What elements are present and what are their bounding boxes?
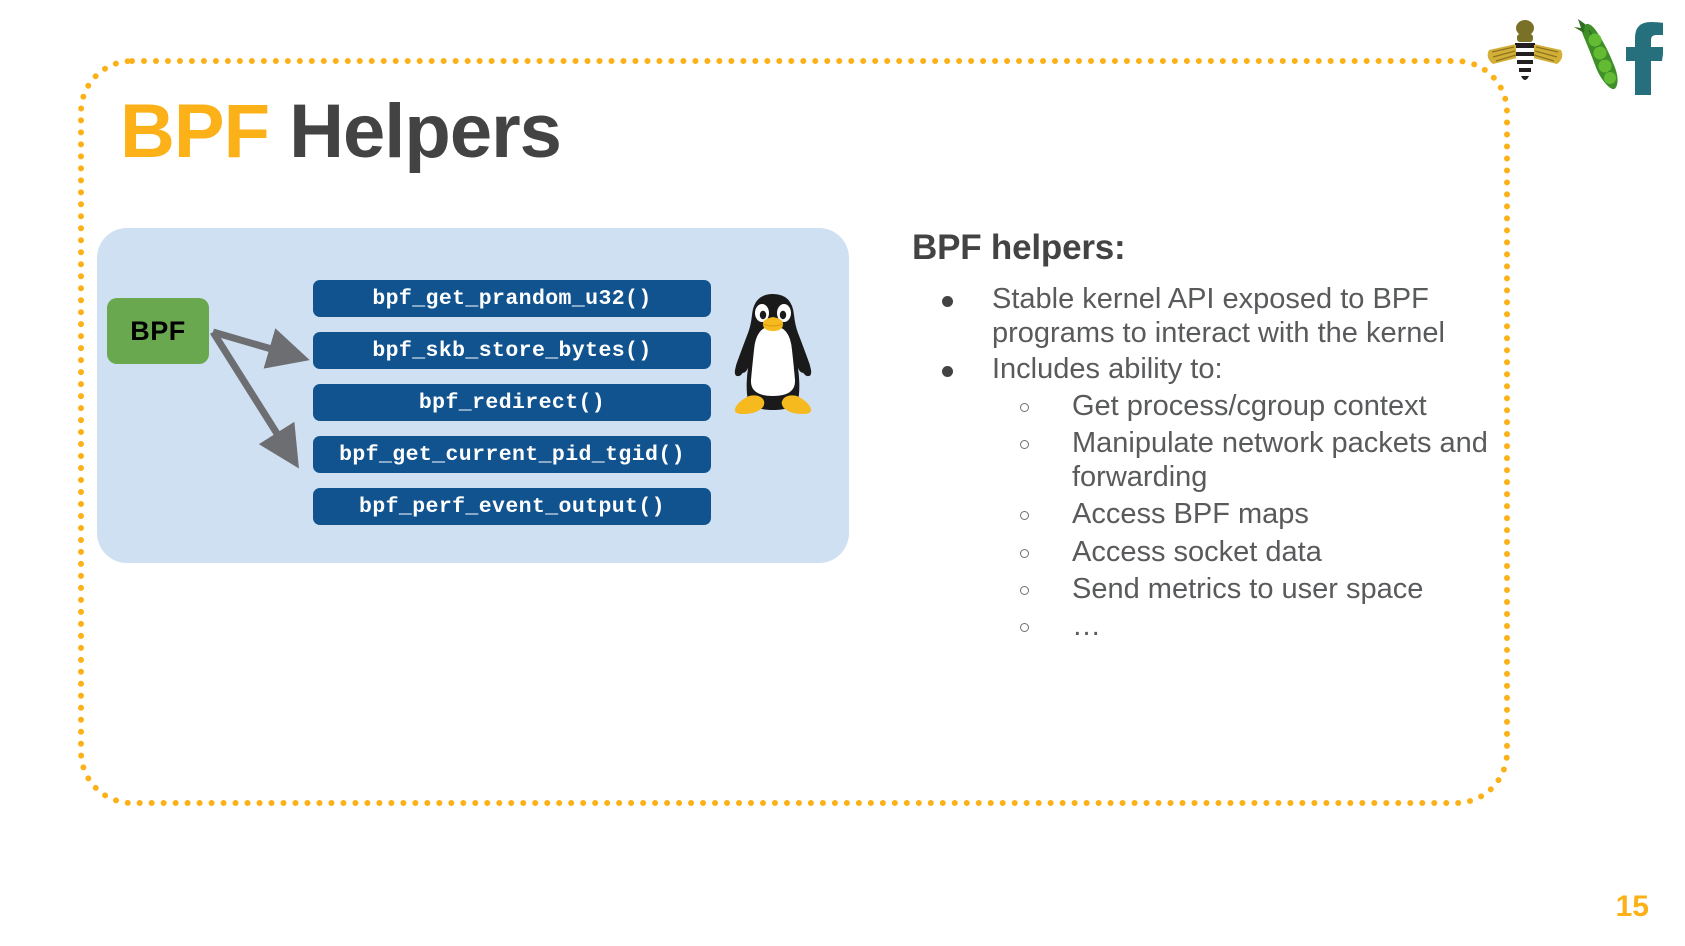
slide-canvas: BPF Helpers BPF bpf_get_prandom_u32() bp… — [0, 0, 1685, 946]
helper-function-box[interactable]: bpf_perf_event_output() — [313, 488, 711, 525]
bullet-circle-icon — [1020, 549, 1029, 558]
list-item: Send metrics to user space — [992, 572, 1492, 606]
helper-function-box[interactable]: bpf_redirect() — [313, 384, 711, 421]
list-item-text: Manipulate network packets and forwardin… — [1072, 427, 1488, 493]
list-item-text: Send metrics to user space — [1072, 573, 1423, 605]
list-item: Access socket data — [992, 535, 1492, 569]
logo-cluster — [1483, 14, 1663, 100]
bullet-circle-icon — [1020, 511, 1029, 520]
list-item-text: Includes ability to: — [992, 353, 1223, 385]
bullet-dot-icon — [942, 366, 953, 377]
bullet-circle-icon — [1020, 440, 1029, 449]
helper-function-box[interactable]: bpf_get_prandom_u32() — [313, 280, 711, 317]
list-item-text: Get process/cgroup context — [1072, 390, 1427, 422]
list-item-text: … — [1072, 610, 1101, 642]
ebpf-bee-icon — [1488, 20, 1563, 85]
bullet-list-level-1: Stable kernel API exposed to BPF program… — [912, 282, 1492, 643]
page-title: BPF Helpers — [120, 90, 561, 174]
facebook-f-icon — [1626, 22, 1663, 95]
bullet-dot-icon — [942, 296, 953, 307]
bullet-list-level-2: Get process/cgroup context Manipulate ne… — [992, 389, 1492, 644]
bullet-circle-icon — [1020, 403, 1029, 412]
list-item: Access BPF maps — [992, 497, 1492, 531]
pea-pod-icon — [1574, 19, 1618, 89]
page-number: 15 — [1616, 890, 1649, 924]
list-item: Manipulate network packets and forwardin… — [992, 426, 1492, 494]
list-item: Get process/cgroup context — [992, 389, 1492, 423]
tux-penguin-icon — [719, 290, 827, 420]
list-item-text: Stable kernel API exposed to BPF program… — [992, 283, 1445, 349]
bullet-circle-icon — [1020, 623, 1029, 632]
helpers-description-panel: BPF helpers: Stable kernel API exposed t… — [912, 228, 1492, 646]
helper-function-box[interactable]: bpf_skb_store_bytes() — [313, 332, 711, 369]
content-heading: BPF helpers: — [912, 228, 1492, 268]
page-title-main: Helpers — [289, 89, 561, 174]
bullet-circle-icon — [1020, 586, 1029, 595]
list-item: Includes ability to: Get process/cgroup … — [912, 352, 1492, 643]
list-item-text: Access socket data — [1072, 536, 1322, 568]
list-item: … — [992, 609, 1492, 643]
list-item-text: Access BPF maps — [1072, 498, 1309, 530]
page-title-accent: BPF — [120, 89, 269, 174]
list-item: Stable kernel API exposed to BPF program… — [912, 282, 1492, 350]
helper-function-box[interactable]: bpf_get_current_pid_tgid() — [313, 436, 711, 473]
bpf-helpers-diagram: BPF bpf_get_prandom_u32() bpf_skb_store_… — [97, 228, 849, 563]
helper-function-list: bpf_get_prandom_u32() bpf_skb_store_byte… — [313, 280, 711, 540]
